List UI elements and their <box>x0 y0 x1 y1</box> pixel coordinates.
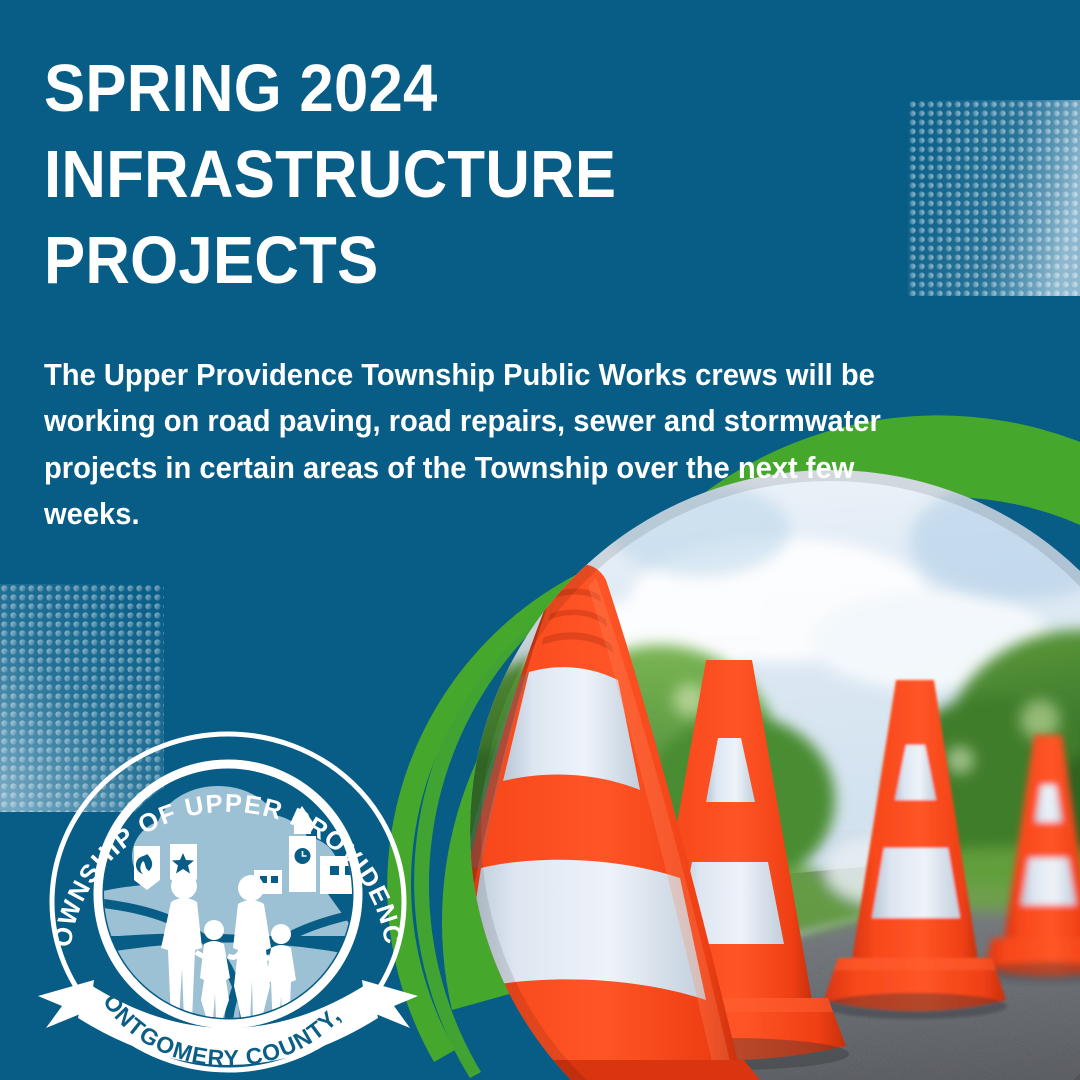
body-paragraph: The Upper Providence Township Public Wor… <box>44 352 884 537</box>
township-seal-logo: TOWNSHIP OF UPPER PROVIDENCE MONTGOMERY … <box>28 706 428 1080</box>
poster-canvas: SPRING 2024 INFRASTRUCTURE PROJECTS The … <box>0 0 1080 1080</box>
page-title: SPRING 2024 INFRASTRUCTURE PROJECTS <box>44 46 706 303</box>
